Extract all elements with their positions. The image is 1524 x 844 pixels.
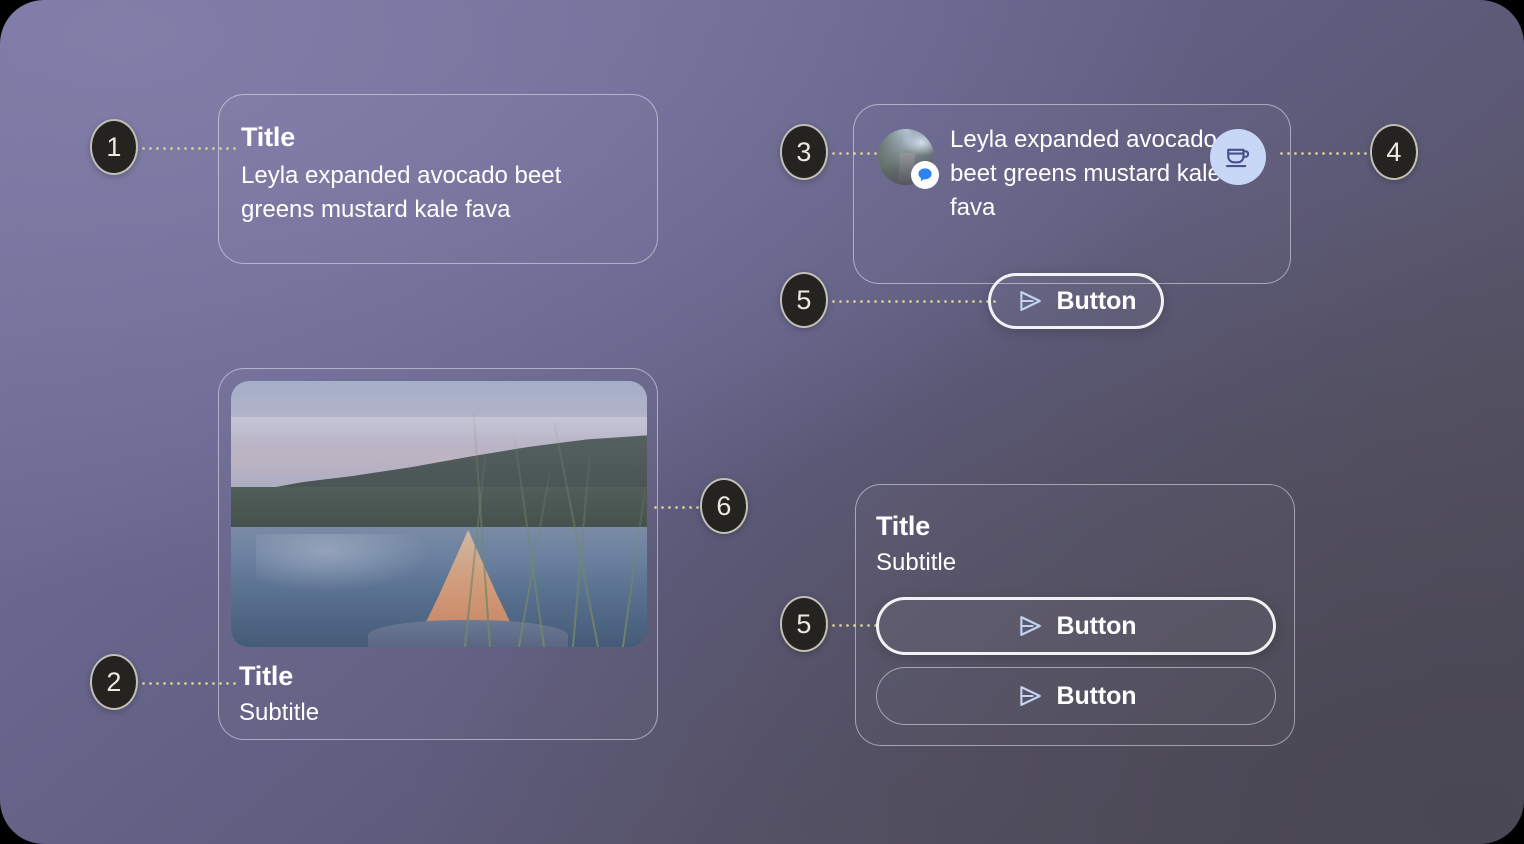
connector-4	[1278, 152, 1370, 155]
card-avatar-message[interactable]: Leyla expanded avocado beet greens musta…	[853, 104, 1291, 284]
card-4-subtitle: Subtitle	[876, 549, 956, 577]
annotation-badge-6[interactable]: 6	[700, 478, 748, 534]
annotation-canvas: Title Leyla expanded avocado beet greens…	[0, 0, 1524, 844]
inner-button-2[interactable]: Button	[876, 667, 1276, 725]
annotation-badge-3[interactable]: 3	[780, 124, 828, 180]
annotation-badge-4[interactable]: 4	[1370, 124, 1418, 180]
overlap-button[interactable]: Button	[988, 273, 1164, 329]
card-4-title: Title	[876, 511, 930, 542]
send-icon	[1016, 612, 1044, 640]
card-2-title: Title	[239, 661, 293, 692]
card-2-thumbnail[interactable]	[231, 381, 647, 647]
overlap-button-label: Button	[1057, 287, 1137, 316]
annotation-badge-5b[interactable]: 5	[780, 596, 828, 652]
send-icon	[1016, 682, 1044, 710]
card-3-avatar[interactable]	[878, 129, 934, 185]
send-icon	[1016, 287, 1044, 315]
card-1-body: Leyla expanded avocado beet greens musta…	[241, 159, 641, 227]
coffee-cup-icon[interactable]	[1210, 129, 1266, 185]
inner-button-1-label: Button	[1057, 612, 1137, 641]
card-2-subtitle: Subtitle	[239, 699, 319, 727]
annotation-badge-5a[interactable]: 5	[780, 272, 828, 328]
inner-button-2-label: Button	[1057, 682, 1137, 711]
chat-bubble-icon	[911, 161, 939, 189]
card-title-subtitle-actions[interactable]: Title Subtitle Button Button	[855, 484, 1295, 746]
annotation-badge-2[interactable]: 2	[90, 654, 138, 710]
card-3-body: Leyla expanded avocado beet greens musta…	[950, 123, 1240, 225]
card-title-body[interactable]: Title Leyla expanded avocado beet greens…	[218, 94, 658, 264]
inner-button-1[interactable]: Button	[876, 597, 1276, 655]
connector-5a	[830, 300, 996, 303]
annotation-badge-1[interactable]: 1	[90, 119, 138, 175]
card-media[interactable]: Title Subtitle	[218, 368, 658, 740]
card-1-title: Title	[241, 122, 295, 153]
